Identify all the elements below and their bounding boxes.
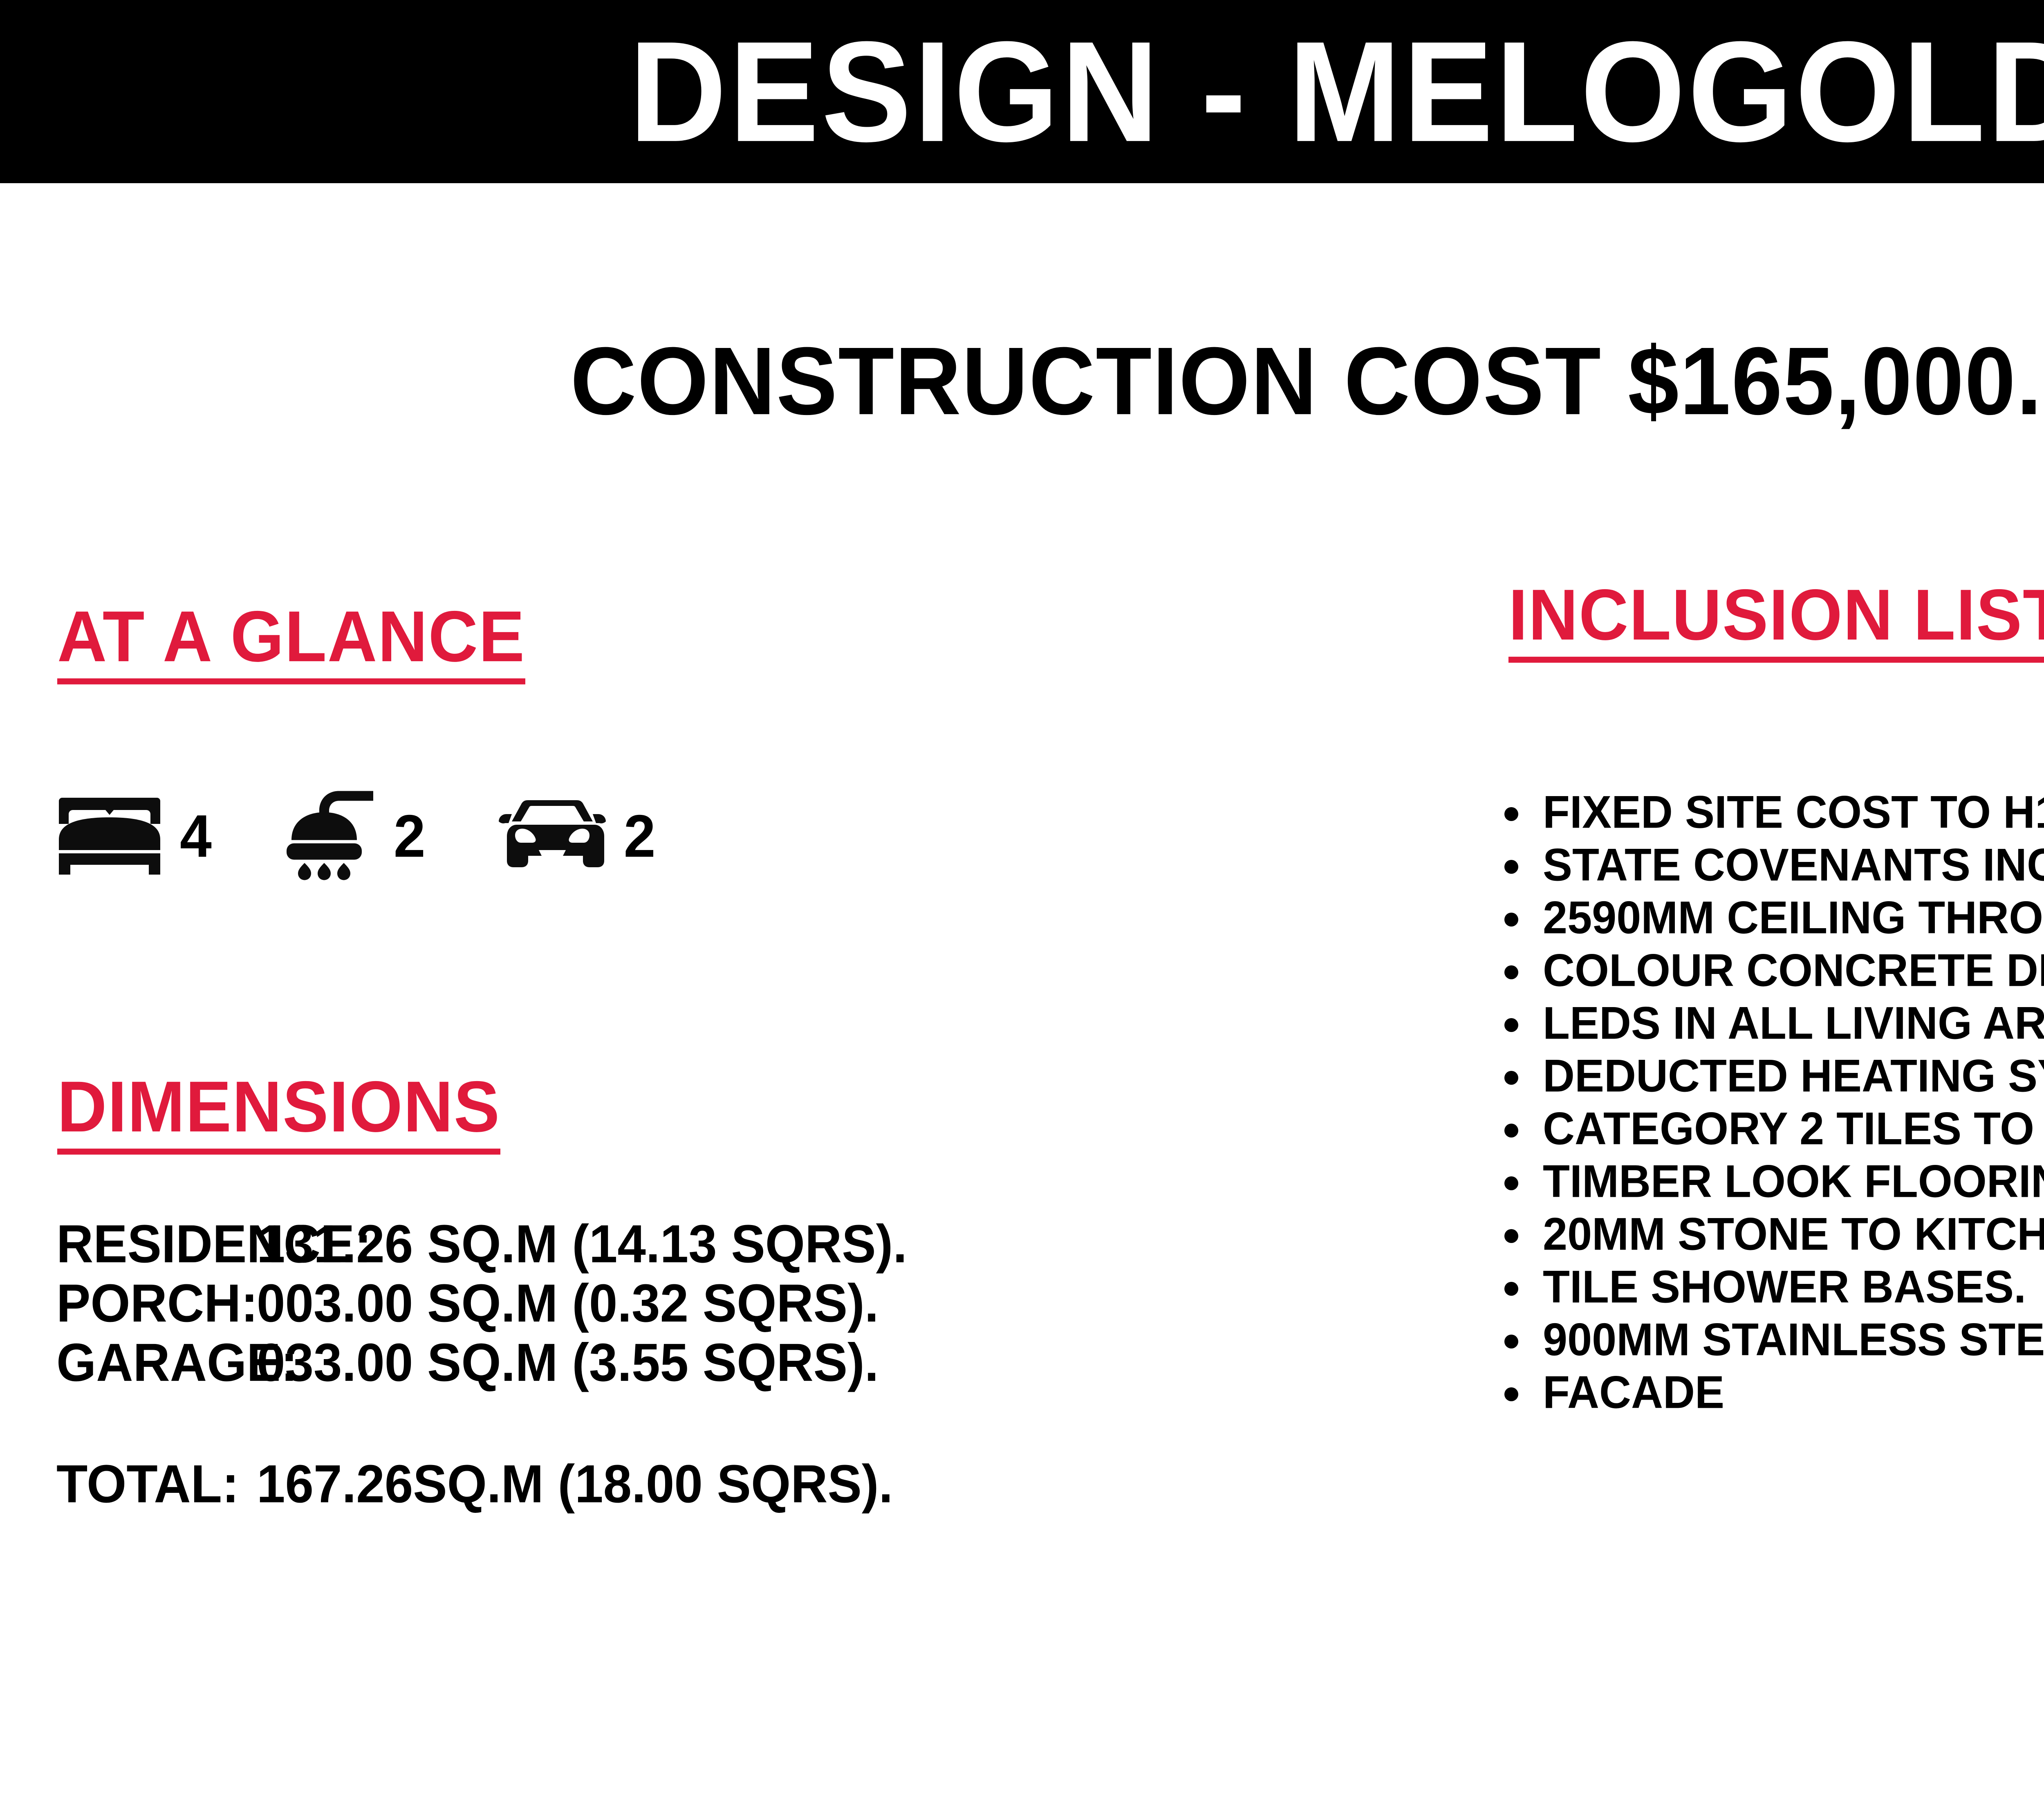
construction-cost-headline: CONSTRUCTION COST $165,000.00 [0,333,2044,429]
list-item: LEDS IN ALL LIVING AREAS. [1504,1000,2044,1053]
list-item-label: 2590MM CEILING THROUGHOUT. [1543,895,2044,940]
header-banner: DESIGN - MELOGOLD [0,0,2044,183]
feature-bathrooms: 2 [283,789,426,883]
list-item-label: LEDS IN ALL LIVING AREAS. [1543,1000,2044,1046]
section-heading-inclusion-list: INCLUSION LIST [1508,579,2044,663]
bullet-icon [1504,860,1518,874]
list-item: 900MM STAINLESS STEEL APPLIANCES [1504,1317,2044,1369]
list-item: 2590MM CEILING THROUGHOUT. [1504,895,2044,947]
bullet-icon [1504,1282,1518,1296]
bedroom-count: 4 [180,806,212,866]
list-item-label: DEDUCTED HEATING SYSTEMS. [1543,1053,2044,1099]
inclusion-list: FIXED SITE COST TO H1 SLAB REQUIREMENTS.… [1504,789,2044,1422]
bullet-icon [1504,1018,1518,1032]
page-title: DESIGN - MELOGOLD [629,20,2044,163]
list-item-label: STATE COVENANTS INCLUDED. [1543,842,2044,888]
dimensions-table: RESIDENCE: 131.26 SQ.M (14.13 SQRS). POR… [56,1218,907,1518]
feature-car-spaces: 2 [497,797,656,876]
bullet-icon [1504,913,1518,927]
bullet-icon [1504,1335,1518,1348]
car-space-count: 2 [624,806,656,866]
dimension-label: GARAGE: [56,1336,257,1389]
section-heading-at-a-glance: AT A GLANCE [57,600,525,684]
dimension-row-residence: RESIDENCE: 131.26 SQ.M (14.13 SQRS). [56,1218,907,1278]
dimension-value: 033.00 SQ.M (3.55 SQRS). [257,1336,879,1389]
brochure-page: DESIGN - MELOGOLD CONSTRUCTION COST $165… [0,0,2044,1795]
dimension-label: PORCH: [56,1277,257,1330]
dimension-row-garage: GARAGE: 033.00 SQ.M (3.55 SQRS). [56,1337,907,1396]
bullet-icon [1504,1071,1518,1085]
list-item-label: TILE SHOWER BASES. [1543,1264,2026,1310]
list-item: TIMBER LOOK FLOORING THROUGHOUT HOUSE. [1504,1158,2044,1211]
list-item-label: TIMBER LOOK FLOORING THROUGHOUT HOUSE. [1543,1158,2044,1204]
list-item-label: COLOUR CONCRETE DRIVEWAY. [1543,947,2044,993]
dimension-value: 131.26 SQ.M (14.13 SQRS). [257,1217,907,1271]
bullet-icon [1504,807,1518,821]
at-a-glance-features: 4 2 [57,789,656,883]
list-item: COLOUR CONCRETE DRIVEWAY. [1504,947,2044,1000]
car-icon [497,797,607,876]
list-item: FIXED SITE COST TO H1 SLAB REQUIREMENTS. [1504,789,2044,842]
list-item: CATEGORY 2 TILES TO WET AREAS. [1504,1106,2044,1158]
feature-bedrooms: 4 [57,794,212,878]
dimension-row-porch: PORCH: 003.00 SQ.M (0.32 SQRS). [56,1278,907,1337]
list-item: TILE SHOWER BASES. [1504,1264,2044,1317]
bullet-icon [1504,1176,1518,1190]
dimension-label: TOTAL: [56,1457,257,1511]
shower-icon [283,789,377,883]
bathroom-count: 2 [394,806,426,866]
bullet-icon [1504,1387,1518,1401]
dimension-value: 167.26SQ.M (18.00 SQRS). [257,1457,893,1511]
dimension-label: RESIDENCE: [56,1217,257,1271]
bullet-icon [1504,1124,1518,1138]
dimension-row-spacer [56,1396,907,1458]
list-item: FACADE [1504,1369,2044,1422]
dimension-value: 003.00 SQ.M (0.32 SQRS). [257,1277,879,1330]
list-item-label: CATEGORY 2 TILES TO WET AREAS. [1543,1106,2044,1151]
list-item-label: FACADE [1543,1369,1724,1415]
section-heading-dimensions: DIMENSIONS [57,1070,500,1155]
bed-icon [57,794,164,878]
list-item-label: FIXED SITE COST TO H1 SLAB REQUIREMENTS. [1543,789,2044,835]
list-item-label: 900MM STAINLESS STEEL APPLIANCES [1543,1317,2044,1362]
list-item: 20MM STONE TO KITCHEN AND VANITY. [1504,1211,2044,1264]
dimension-row-total: TOTAL: 167.26SQ.M (18.00 SQRS). [56,1458,907,1518]
list-item-label: 20MM STONE TO KITCHEN AND VANITY. [1543,1211,2044,1257]
list-item: STATE COVENANTS INCLUDED. [1504,842,2044,895]
bullet-icon [1504,1229,1518,1243]
list-item: DEDUCTED HEATING SYSTEMS. [1504,1053,2044,1106]
bullet-icon [1504,965,1518,979]
